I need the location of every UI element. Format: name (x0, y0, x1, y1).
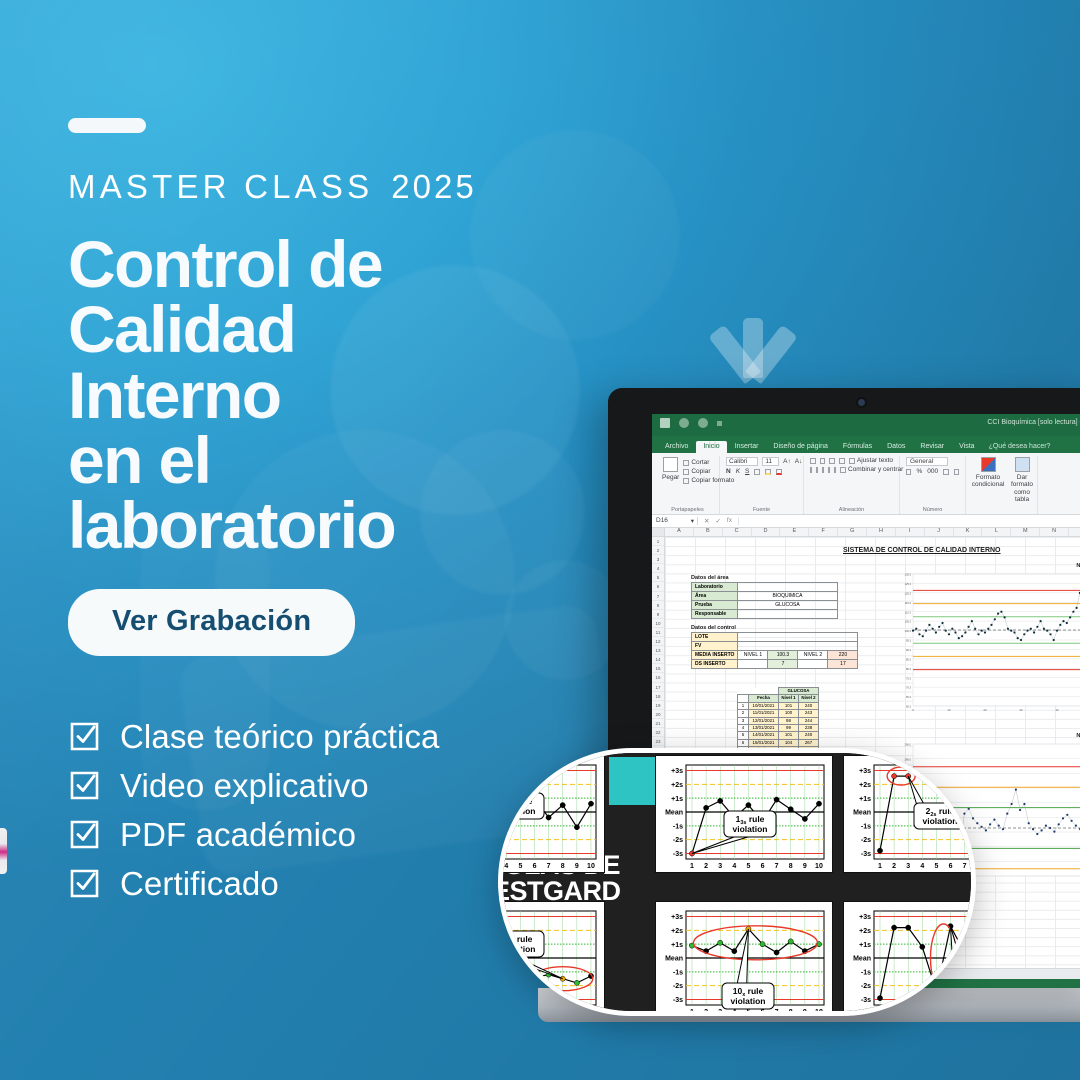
underline-button[interactable]: S (745, 468, 749, 475)
svg-text:115.3: 115.3 (905, 601, 912, 605)
svg-text:7: 7 (775, 863, 779, 870)
list-item: Clase teórico práctica (68, 718, 538, 756)
checkbox-checked-icon (68, 818, 101, 851)
column-header[interactable]: B (694, 528, 723, 536)
row-header[interactable]: 10 (652, 619, 664, 628)
tab-insertar[interactable]: Insertar (728, 441, 766, 453)
table-row: 514/01/2021101240 (738, 732, 819, 739)
table-cell[interactable]: 10/01/2021 (749, 702, 779, 709)
select-all-corner[interactable] (652, 528, 665, 536)
title-rule-decoration (68, 118, 146, 133)
svg-text:9: 9 (575, 863, 579, 870)
table-row: LOTE (692, 633, 858, 642)
quick-access-toolbar[interactable] (660, 418, 722, 428)
chevron-down-icon[interactable]: ▾ (691, 517, 694, 525)
column-header[interactable]: E (780, 528, 809, 536)
tab-datos[interactable]: Datos (880, 441, 912, 453)
magnifier-bubble: REGLAS DE WESTGARD +3s+2s+1sMean-1s-2s-3… (498, 748, 976, 1016)
table-cell[interactable]: 11/01/2021 (749, 710, 779, 717)
svg-text:3: 3 (718, 863, 722, 870)
save-icon[interactable] (660, 418, 670, 428)
table-row: 312/01/202198244 (738, 717, 819, 724)
svg-text:6: 6 (761, 1009, 765, 1016)
table-row: FV (692, 642, 858, 651)
increase-font-icon[interactable]: A↑ (783, 458, 791, 465)
svg-text:-1s: -1s (673, 823, 683, 830)
scissors-icon (683, 460, 689, 466)
row-header[interactable]: 4 (652, 564, 664, 573)
svg-text:2: 2 (704, 863, 708, 870)
decrease-font-icon[interactable]: A↓ (795, 458, 803, 465)
svg-text:5: 5 (934, 863, 938, 870)
svg-text:-1s: -1s (861, 823, 871, 830)
svg-text:110.3: 110.3 (905, 610, 912, 614)
svg-text:violation: violation (501, 806, 536, 816)
column-header[interactable]: C (723, 528, 752, 536)
svg-text:Mean: Mean (665, 956, 683, 963)
orientation-icon[interactable] (839, 458, 845, 464)
svg-text:+2s: +2s (671, 782, 683, 789)
ribbon-group-numero: General % 000 Número (900, 456, 966, 514)
svg-text:violation: violation (731, 996, 766, 1006)
percent-icon[interactable]: % (916, 468, 922, 475)
column-header-cell: Nivel 1 (779, 695, 799, 702)
sheet-heading: SISTEMA DE CONTROL DE CALIDAD INTERNO (843, 547, 1001, 554)
font-color-icon[interactable] (776, 469, 782, 475)
tab-formulas[interactable]: Fórmulas (836, 441, 879, 453)
svg-text:-2s: -2s (861, 983, 871, 990)
cancel-edit-icon[interactable]: ✕ (704, 517, 709, 525)
svg-text:1: 1 (690, 1009, 694, 1016)
table-cell[interactable]: 243 (799, 710, 819, 717)
undo-icon[interactable] (679, 418, 689, 428)
levey-jennings-chart-nivel-1: NIVEL 1 130.3125.3120.3115.3110.3105.310… (887, 563, 1080, 725)
svg-text:10: 10 (815, 1009, 823, 1016)
svg-text:6: 6 (761, 863, 765, 870)
checkbox-checked-icon (68, 720, 101, 753)
table-cell[interactable]: 14/01/2021 (749, 732, 779, 739)
column-headers: A B C D E F G H I J K L M N O (652, 528, 1080, 537)
ribbon-group-portapapeles: Pegar Cortar Copiar Copiar formato Porta… (656, 456, 720, 514)
column-header[interactable]: J (925, 528, 954, 536)
currency-icon[interactable] (906, 469, 911, 475)
control-data-block: Datos del control LOTE FV MEDIA INSERTO … (691, 625, 858, 669)
westgard-panel-4: +3s+2s+1sMean-1s-2s-3s1234567891041s rul… (498, 901, 605, 1016)
svg-text:+1s: +1s (671, 942, 683, 949)
table-cell[interactable]: 240 (799, 732, 819, 739)
svg-text:120.3: 120.3 (905, 591, 912, 595)
column-header[interactable]: O (1069, 528, 1080, 536)
svg-text:4: 4 (732, 863, 736, 870)
checkbox-checked-icon (68, 867, 101, 900)
wrap-text-button[interactable]: Ajustar texto (849, 457, 893, 464)
svg-text:5: 5 (746, 863, 750, 870)
row-header[interactable]: 14 (652, 655, 664, 664)
svg-text:Mean: Mean (665, 810, 683, 817)
svg-text:violation: violation (733, 824, 768, 834)
table-row: MEDIA INSERTO NIVEL 1 100.3 NIVEL 2 220 (692, 651, 858, 660)
group-label: Alineación (804, 507, 899, 513)
svg-text:4: 4 (732, 1009, 736, 1016)
document-title: CCI Bioquímica [solo lectura] - Ex (987, 419, 1080, 426)
block-caption: Datos del control (691, 625, 858, 631)
column-header-cell: Fecha (749, 695, 779, 702)
table-cell[interactable]: 98 (779, 717, 799, 724)
svg-text:9: 9 (803, 1009, 807, 1016)
teal-accent-square (609, 757, 655, 805)
column-header[interactable]: M (1011, 528, 1040, 536)
table-cell[interactable]: 240 (799, 702, 819, 709)
comma-style-icon[interactable]: 000 (927, 468, 938, 475)
table-cell[interactable]: 2 (738, 710, 749, 717)
align-right-icon[interactable] (822, 467, 824, 473)
svg-text:1: 1 (878, 863, 882, 870)
svg-text:-1s: -1s (861, 969, 871, 976)
table-cell[interactable]: 15/01/2021 (749, 739, 779, 746)
svg-text:-2s: -2s (673, 983, 683, 990)
table-cell[interactable]: 104 (779, 739, 799, 746)
formula-bar: D16▾ ✕ ✓ fx (652, 515, 1080, 528)
svg-text:+1s: +1s (859, 942, 871, 949)
table-row: 211/01/2021100243 (738, 710, 819, 717)
svg-text:3: 3 (906, 863, 910, 870)
row-header[interactable]: 16 (652, 673, 664, 682)
table-cell[interactable]: 99 (779, 725, 799, 732)
align-center-icon[interactable] (816, 467, 818, 473)
column-header[interactable]: L (982, 528, 1011, 536)
svg-text:8: 8 (789, 863, 793, 870)
svg-text:9: 9 (803, 863, 807, 870)
svg-text:violation: violation (923, 816, 958, 826)
svg-text:85.3: 85.3 (906, 657, 912, 661)
row-header[interactable]: 17 (652, 683, 664, 692)
excel-ribbon: Pegar Cortar Copiar Copiar formato Porta… (652, 453, 1080, 515)
insert-function-icon[interactable]: fx (727, 517, 732, 525)
svg-text:65.3: 65.3 (906, 695, 912, 699)
ribbon-group-fuente: Calibri 11 A↑ A↓ N K S (720, 456, 804, 514)
svg-text:80.3: 80.3 (906, 667, 912, 671)
column-header[interactable]: F (809, 528, 838, 536)
row-header[interactable]: 7 (652, 592, 664, 601)
table-row: PruebaGLUCOSA (692, 601, 838, 610)
redo-icon[interactable] (698, 418, 708, 428)
ribbon-tab-strip: Archivo Inicio Insertar Diseño de página… (652, 436, 1080, 453)
format-as-table-button[interactable]: Dar formato como tabla (1011, 457, 1033, 504)
webcam-icon (858, 399, 865, 406)
group-label: Número (900, 507, 965, 513)
svg-text:-3s: -3s (673, 851, 683, 858)
eyebrow-label: MASTER CLASS (68, 168, 373, 205)
svg-text:2: 2 (704, 1009, 708, 1016)
row-header[interactable]: 20 (652, 710, 664, 719)
table-cell[interactable]: 267 (799, 739, 819, 746)
table-cell[interactable]: 13/01/2021 (749, 725, 779, 732)
svg-text:70.3: 70.3 (906, 686, 912, 690)
wrap-text-icon (849, 458, 855, 464)
svg-text:90.3: 90.3 (906, 648, 912, 652)
table-icon (1015, 457, 1030, 472)
align-top-icon[interactable] (810, 458, 816, 464)
table-row: 615/01/2021104267 (738, 739, 819, 746)
list-item: Video explicativo (68, 767, 538, 805)
list-item: PDF académico (68, 816, 538, 854)
svg-text:4: 4 (920, 863, 924, 870)
excel-title-bar: CCI Bioquímica [solo lectura] - Ex (652, 414, 1080, 436)
chart-canvas: 130.3125.3120.3115.3110.3105.3100.395.39… (887, 570, 1080, 720)
table-cell[interactable]: 101 (779, 702, 799, 709)
tab-archivo[interactable]: Archivo (658, 441, 695, 453)
row-header[interactable]: 22 (652, 728, 664, 737)
row-header[interactable]: 11 (652, 628, 664, 637)
svg-text:-2s: -2s (861, 837, 871, 844)
align-left-icon[interactable] (810, 467, 812, 473)
table-cell[interactable]: 100 (779, 710, 799, 717)
svg-text:7: 7 (547, 863, 551, 870)
table-cell[interactable]: 6 (738, 739, 749, 746)
column-header[interactable]: H (867, 528, 896, 536)
svg-text:10: 10 (815, 863, 823, 870)
svg-text:95.3: 95.3 (906, 639, 912, 643)
promo-copy-column: MASTER CLASS2025 Control de Calidad Inte… (68, 118, 538, 914)
column-header[interactable]: I (896, 528, 925, 536)
borders-icon[interactable] (754, 469, 760, 475)
svg-text:5: 5 (746, 1009, 750, 1016)
svg-text:-3s: -3s (861, 851, 871, 858)
table-row: 110/01/2021101240 (738, 702, 819, 709)
svg-text:5: 5 (518, 863, 522, 870)
svg-text:+1s: +1s (671, 796, 683, 803)
svg-text:6: 6 (533, 863, 537, 870)
svg-text:-3s: -3s (861, 997, 871, 1004)
column-header-cell (738, 695, 749, 702)
row-header[interactable]: 23 (652, 737, 664, 746)
feature-label: Video explicativo (120, 767, 369, 805)
align-bottom-icon[interactable] (829, 458, 835, 464)
column-header[interactable]: G (838, 528, 867, 536)
svg-text:75.3: 75.3 (906, 676, 912, 680)
svg-text:10: 10 (587, 863, 595, 870)
westgard-panel-1: +3s+2s+1sMean-1s-2s-3s1234567891012s rul… (498, 755, 605, 873)
table-cell[interactable]: 244 (799, 717, 819, 724)
poster-canvas: MASTER CLASS2025 Control de Calidad Inte… (0, 0, 1080, 1080)
row-header[interactable]: 21 (652, 719, 664, 728)
svg-text:7: 7 (963, 863, 967, 870)
tell-me-box[interactable]: ¿Qué desea hacer? (983, 441, 1057, 453)
tab-revisar[interactable]: Revisar (913, 441, 951, 453)
table-row: 413/01/202199238 (738, 725, 819, 732)
row-header[interactable]: 5 (652, 573, 664, 582)
svg-text:60.3: 60.3 (906, 705, 912, 709)
westgard-slide: REGLAS DE WESTGARD +3s+2s+1sMean-1s-2s-3… (498, 748, 976, 1016)
westgard-panel-2: +3s+2s+1sMean-1s-2s-3s1234567891013s rul… (655, 755, 833, 873)
decorative-fan-icon (705, 318, 795, 388)
westgard-panel-6: +3s+2s+1sMean-1s-2s-3s12345678910R4s rul… (843, 901, 976, 1016)
svg-text:+3s: +3s (859, 768, 871, 775)
decrease-indent-icon[interactable] (828, 467, 830, 473)
list-item: Certificado (68, 865, 538, 903)
svg-text:4: 4 (504, 863, 508, 870)
fill-color-icon[interactable] (765, 469, 771, 475)
align-middle-icon[interactable] (820, 458, 826, 464)
svg-text:290.0: 290.0 (905, 743, 912, 747)
svg-text:20: 20 (984, 708, 987, 712)
area-data-block: Datos del área Laboratorio ÁreaBIOQUIMIC… (691, 575, 838, 619)
edge-accent-sliver (0, 828, 7, 874)
svg-text:Mean: Mean (853, 956, 871, 963)
table-row: DS INSERTO 7 17 (692, 660, 858, 669)
font-family-select[interactable]: Calibri (726, 457, 758, 466)
svg-text:7: 7 (775, 1009, 779, 1016)
table-cell[interactable]: 238 (799, 725, 819, 732)
increase-decimal-icon[interactable] (943, 469, 948, 475)
number-format-select[interactable]: General (906, 457, 948, 466)
table-cell[interactable]: 4 (738, 725, 749, 732)
svg-text:8: 8 (561, 863, 565, 870)
row-header[interactable]: 13 (652, 646, 664, 655)
row-header[interactable]: 8 (652, 601, 664, 610)
increase-indent-icon[interactable] (834, 467, 836, 473)
column-header[interactable]: K (954, 528, 983, 536)
row-header[interactable]: 3 (652, 555, 664, 564)
conditional-format-button[interactable]: Formato condicional (972, 457, 1004, 489)
eyebrow-year: 2025 (391, 168, 476, 205)
brush-icon (683, 478, 689, 484)
row-header[interactable]: 15 (652, 664, 664, 673)
font-size-select[interactable]: 11 (762, 457, 779, 466)
svg-text:+3s: +3s (859, 914, 871, 921)
checkbox-checked-icon (68, 769, 101, 802)
table-row: Responsable (692, 610, 838, 619)
feature-list: Clase teórico práctica Video explicativo… (68, 718, 538, 903)
paste-button[interactable]: Pegar (662, 457, 679, 481)
table-row: ÁreaBIOQUIMICA (692, 592, 838, 601)
column-header[interactable]: N (1040, 528, 1069, 536)
svg-text:125.3: 125.3 (905, 582, 912, 586)
column-header-cell: Nivel 2 (799, 695, 819, 702)
tab-vista[interactable]: Vista (952, 441, 981, 453)
decrease-decimal-icon[interactable] (954, 469, 959, 475)
chart-title: NIVEL 1 (887, 563, 1080, 569)
table-row: GLUCOSA (738, 688, 819, 695)
table-cell[interactable]: 101 (779, 732, 799, 739)
confirm-edit-icon[interactable]: ✓ (715, 517, 720, 525)
svg-text:-3s: -3s (673, 997, 683, 1004)
name-box[interactable]: D16▾ (652, 517, 698, 525)
svg-text:10: 10 (948, 708, 951, 712)
westgard-panel-5: +3s+2s+1sMean-1s-2s-3s1234567891010x rul… (655, 901, 833, 1016)
table-cell[interactable]: 5 (738, 732, 749, 739)
ver-grabacion-button[interactable]: Ver Grabación (68, 589, 355, 656)
svg-text:+1s: +1s (859, 796, 871, 803)
page-title: Control de Calidad Interno en el laborat… (68, 232, 538, 559)
table-cell[interactable]: 3 (738, 717, 749, 724)
svg-text:+2s: +2s (859, 782, 871, 789)
svg-text:40: 40 (1056, 708, 1059, 712)
svg-text:100.3: 100.3 (905, 629, 912, 633)
column-header[interactable]: D (752, 528, 781, 536)
row-header[interactable]: 6 (652, 582, 664, 591)
merge-center-button[interactable]: Combinar y centrar (840, 466, 903, 473)
tab-inicio[interactable]: Inicio (696, 441, 726, 453)
svg-text:0: 0 (912, 708, 914, 712)
svg-text:30: 30 (1020, 708, 1023, 712)
row-header[interactable]: 18 (652, 692, 664, 701)
svg-text:Mean: Mean (853, 810, 871, 817)
block-caption: Datos del área (691, 575, 838, 581)
row-header[interactable]: 19 (652, 701, 664, 710)
chart-title: NIVEL 2 (887, 733, 1080, 739)
svg-text:1: 1 (690, 863, 694, 870)
svg-text:+3s: +3s (671, 768, 683, 775)
svg-text:130.3: 130.3 (905, 573, 912, 577)
svg-text:6: 6 (949, 863, 953, 870)
group-label: Portapapeles (656, 507, 719, 513)
feature-label: Clase teórico práctica (120, 718, 440, 756)
svg-text:violation: violation (501, 944, 536, 954)
svg-text:2: 2 (892, 863, 896, 870)
svg-text:105.3: 105.3 (905, 620, 912, 624)
conditional-format-icon (981, 457, 996, 472)
analyte-header: GLUCOSA (779, 688, 819, 695)
feature-label: Certificado (120, 865, 279, 903)
table-cell[interactable]: 12/01/2021 (749, 717, 779, 724)
svg-text:8: 8 (789, 1009, 793, 1016)
table-row: FechaNivel 1Nivel 2 (738, 695, 819, 702)
row-header[interactable]: 2 (652, 546, 664, 555)
svg-text:-1s: -1s (673, 969, 683, 976)
feature-label: PDF académico (120, 816, 356, 854)
column-header[interactable]: A (665, 528, 694, 536)
table-cell[interactable]: 1 (738, 702, 749, 709)
row-header[interactable]: 9 (652, 610, 664, 619)
table-row: Laboratorio (692, 583, 838, 592)
customize-qat-icon[interactable] (717, 421, 722, 426)
paste-icon (663, 457, 678, 472)
bold-button[interactable]: N (726, 468, 731, 475)
copy-icon (683, 469, 689, 475)
svg-text:-2s: -2s (673, 837, 683, 844)
merge-icon (840, 467, 846, 473)
group-label: Fuente (720, 507, 803, 513)
ribbon-group-estilos: Formato condicional Dar formato como tab… (966, 456, 1038, 514)
ribbon-group-alineacion: Ajustar texto Combinar y centrar Alineac… (804, 456, 900, 514)
svg-text:+2s: +2s (671, 928, 683, 935)
row-header[interactable]: 1 (652, 537, 664, 546)
eyebrow-text: MASTER CLASS2025 (68, 168, 538, 206)
svg-text:3: 3 (718, 1009, 722, 1016)
row-header[interactable]: 12 (652, 637, 664, 646)
tab-diseno-de-pagina[interactable]: Diseño de página (766, 441, 835, 453)
svg-text:+2s: +2s (859, 928, 871, 935)
westgard-panel-3: +3s+2s+1sMean-1s-2s-3s1234567891022s rul… (843, 755, 976, 873)
svg-text:+3s: +3s (671, 914, 683, 921)
italic-button[interactable]: K (736, 468, 740, 475)
